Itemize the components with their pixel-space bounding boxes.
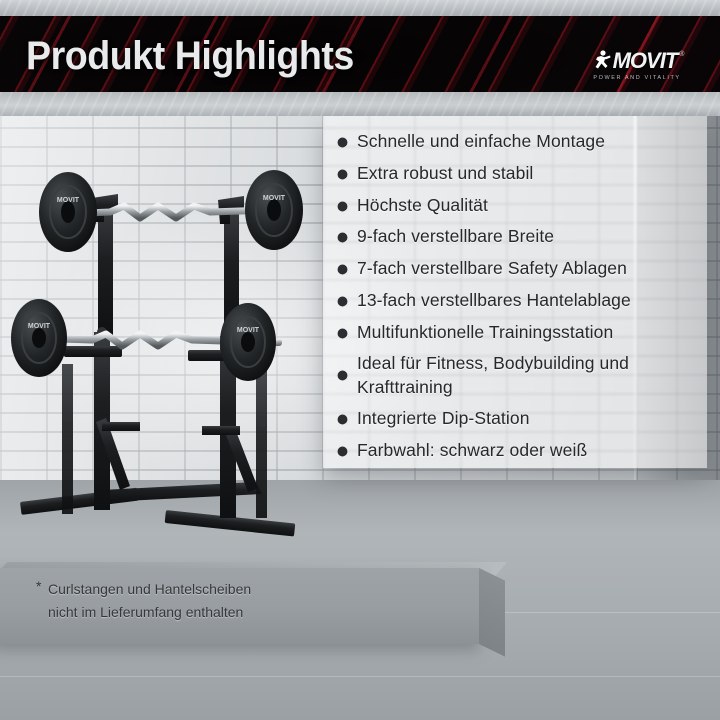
header-banner: Produkt Highlights MOVIT ® POWER AND VIT… bbox=[0, 16, 720, 92]
feature-item: 7-fach verstellbare Safety Ablagen bbox=[337, 257, 697, 280]
svg-text:MOVIT: MOVIT bbox=[237, 327, 260, 334]
feature-item: Ideal für Fitness, Bodybuilding und Kraf… bbox=[337, 352, 697, 399]
feature-item-label: Höchste Qualität bbox=[357, 194, 488, 217]
feature-item-label: Integrierte Dip-Station bbox=[357, 407, 530, 430]
bottom-metal-strip bbox=[0, 92, 720, 116]
brand-logo: MOVIT ® POWER AND VITALITY bbox=[572, 42, 702, 86]
svg-text:MOVIT: MOVIT bbox=[263, 195, 286, 202]
page-title: Produkt Highlights bbox=[26, 34, 354, 79]
crescent-bullet-icon bbox=[337, 370, 348, 381]
footnote-slab-side bbox=[479, 568, 505, 657]
feature-item: Multifunktionelle Trainingsstation bbox=[337, 321, 697, 344]
feature-item: Höchste Qualität bbox=[337, 194, 697, 217]
footnote-text: Curlstangen und Hantelscheiben nicht im … bbox=[48, 578, 428, 624]
features-list: Schnelle und einfache MontageExtra robus… bbox=[323, 116, 707, 468]
feature-item-label: Multifunktionelle Trainingsstation bbox=[357, 321, 613, 344]
footnote-line-1: Curlstangen und Hantelscheiben bbox=[48, 578, 428, 601]
crescent-bullet-icon bbox=[337, 169, 348, 180]
running-figure-icon bbox=[590, 49, 612, 73]
feature-item-label: 9-fach verstellbare Breite bbox=[357, 225, 554, 248]
feature-item-label: Extra robust und stabil bbox=[357, 162, 533, 185]
feature-item-label: 13-fach verstellbares Hantelablage bbox=[357, 289, 631, 312]
crescent-bullet-icon bbox=[337, 296, 348, 307]
feature-item-label: Schnelle und einfache Montage bbox=[357, 130, 605, 153]
floor-seam bbox=[0, 676, 720, 677]
feature-item: Extra robust und stabil bbox=[337, 162, 697, 185]
logo-row: MOVIT ® bbox=[590, 48, 685, 74]
feature-item-label: Farbwahl: schwarz oder weiß bbox=[357, 439, 587, 462]
logo-trademark: ® bbox=[679, 51, 684, 58]
logo-wordmark: MOVIT bbox=[613, 48, 678, 74]
logo-tagline: POWER AND VITALITY bbox=[593, 75, 680, 81]
crescent-bullet-icon bbox=[337, 446, 348, 457]
svg-text:MOVIT: MOVIT bbox=[28, 323, 51, 330]
product-image-squat-rack: MOVIT MOVIT MOVIT MOVIT bbox=[6, 150, 336, 550]
product-highlights-image: MOVIT MOVIT MOVIT MOVIT bbox=[0, 0, 720, 720]
squat-rack-illustration: MOVIT MOVIT MOVIT MOVIT bbox=[6, 150, 336, 550]
feature-item-label: 7-fach verstellbare Safety Ablagen bbox=[357, 257, 627, 280]
crescent-bullet-icon bbox=[337, 232, 348, 243]
feature-item-label: Ideal für Fitness, Bodybuilding und Kraf… bbox=[357, 352, 697, 399]
svg-text:MOVIT: MOVIT bbox=[57, 197, 80, 204]
crescent-bullet-icon bbox=[337, 137, 348, 148]
feature-item: 13-fach verstellbares Hantelablage bbox=[337, 289, 697, 312]
top-metal-strip bbox=[0, 0, 720, 16]
footnote-line-2: nicht im Lieferumfang enthalten bbox=[48, 601, 428, 624]
feature-item: Schnelle und einfache Montage bbox=[337, 130, 697, 153]
feature-item: Integrierte Dip-Station bbox=[337, 407, 697, 430]
crescent-bullet-icon bbox=[337, 201, 348, 212]
crescent-bullet-icon bbox=[337, 328, 348, 339]
crescent-bullet-icon bbox=[337, 414, 348, 425]
feature-item: Farbwahl: schwarz oder weiß bbox=[337, 439, 697, 462]
crescent-bullet-icon bbox=[337, 264, 348, 275]
footnote-marker: * bbox=[36, 578, 41, 594]
feature-item: 9-fach verstellbare Breite bbox=[337, 225, 697, 248]
